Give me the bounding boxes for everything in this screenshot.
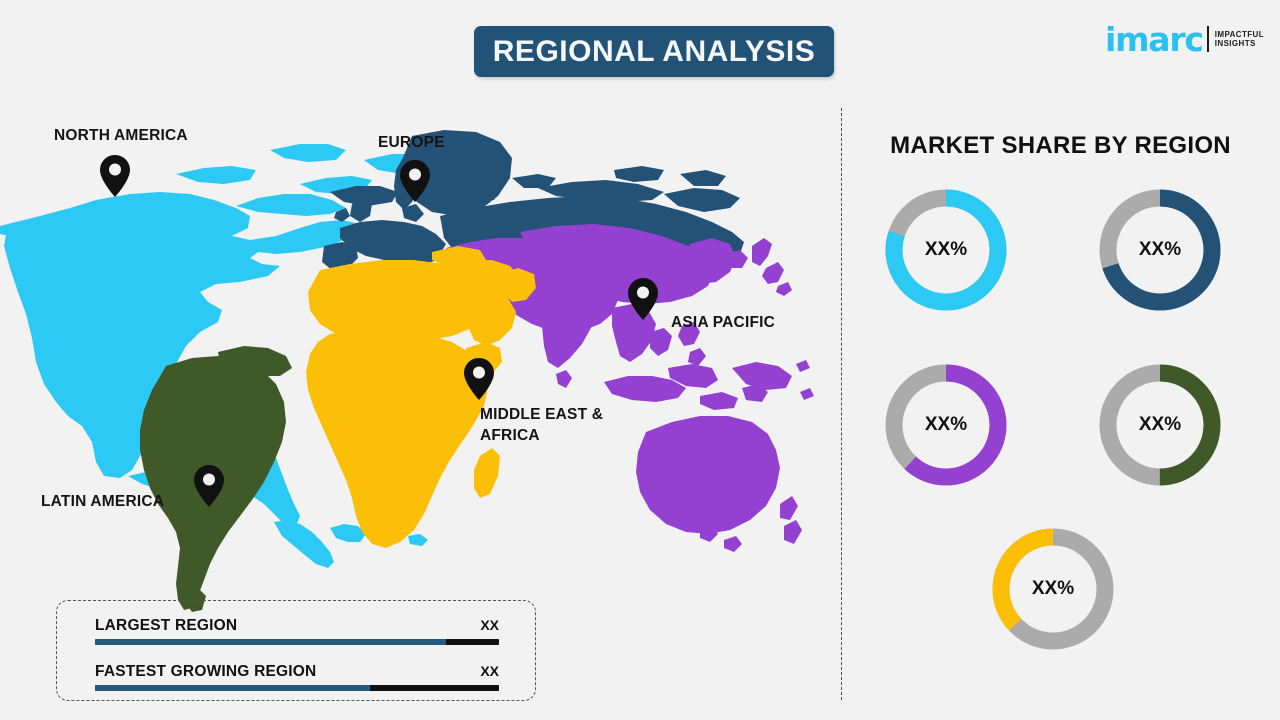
largest-region-value: XX (480, 617, 499, 633)
fastest-growing-region-label: FASTEST GROWING REGION (95, 663, 316, 681)
donut-value-latin-america: XX% (1094, 359, 1226, 491)
donut-chart-asia-pacific: XX% (880, 359, 1012, 491)
logo-tagline-line1: IMPACTFUL (1215, 30, 1264, 39)
legend-row-largest-region: LARGEST REGION XX (95, 617, 499, 645)
region-summary-box: LARGEST REGION XX FASTEST GROWING REGION… (56, 600, 536, 701)
map-label-north-america: NORTH AMERICA (54, 126, 188, 147)
imarc-logo: imarc IMPACTFUL INSIGHTS (1105, 21, 1264, 57)
map-pin-north-america-icon (100, 155, 130, 202)
donut-chart-europe: XX% (1094, 184, 1226, 316)
map-label-middle-east-africa: MIDDLE EAST & AFRICA (480, 405, 603, 447)
logo-divider-icon (1207, 26, 1209, 52)
largest-region-label: LARGEST REGION (95, 617, 237, 635)
largest-region-bar-fill (95, 639, 446, 645)
donut-value-europe: XX% (1094, 184, 1226, 316)
donut-value-asia-pacific: XX% (880, 359, 1012, 491)
logo-tagline: IMPACTFUL INSIGHTS (1215, 30, 1264, 49)
map-label-asia-pacific: ASIA PACIFIC (671, 313, 775, 334)
fastest-growing-region-bar-fill (95, 685, 370, 691)
page-title-badge: REGIONAL ANALYSIS (474, 26, 834, 77)
imarc-wordmark: imarc (1105, 23, 1203, 56)
donut-chart-north-america: XX% (880, 184, 1012, 316)
largest-region-bar (95, 639, 499, 645)
donut-chart-middle-east-africa: XX% (987, 523, 1119, 655)
legend-row-fastest-growing-region: FASTEST GROWING REGION XX (95, 663, 499, 691)
map-label-europe: EUROPE (378, 133, 445, 154)
map-pin-europe-icon (400, 160, 430, 207)
market-share-panel-title: MARKET SHARE BY REGION (841, 132, 1280, 160)
fastest-growing-region-bar (95, 685, 499, 691)
panel-divider (841, 108, 842, 700)
page-title: REGIONAL ANALYSIS (493, 35, 815, 69)
donut-value-north-america: XX% (880, 184, 1012, 316)
regional-analysis-infographic: REGIONAL ANALYSIS imarc IMPACTFUL INSIGH… (0, 0, 1280, 720)
donut-value-middle-east-africa: XX% (987, 523, 1119, 655)
map-label-latin-america: LATIN AMERICA (41, 492, 164, 513)
map-pin-asia-pacific-icon (628, 278, 658, 325)
logo-tagline-line2: INSIGHTS (1215, 39, 1264, 48)
map-region-middle-east-africa (306, 246, 536, 548)
map-pin-middle-east-africa-icon (464, 358, 494, 405)
fastest-growing-region-value: XX (480, 663, 499, 679)
donut-chart-latin-america: XX% (1094, 359, 1226, 491)
map-pin-latin-america-icon (194, 465, 224, 512)
